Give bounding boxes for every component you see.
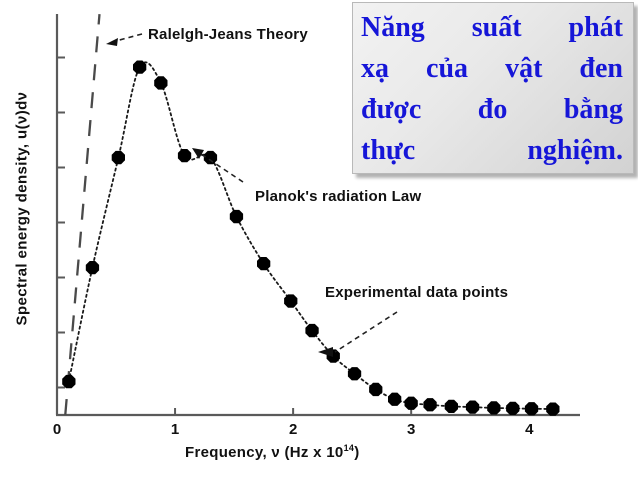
data-point-1 [86,261,99,274]
data-point-18 [466,401,479,414]
x-tick-label-1: 1 [163,421,187,438]
rayleigh-jeans-curve [65,14,99,415]
data-point-20 [506,402,519,415]
data-point-10 [305,324,318,337]
data-point-12 [348,367,361,380]
data-point-8 [257,257,270,270]
data-point-3 [133,61,146,74]
experimental-leader [335,312,397,352]
planck-arrowhead [192,148,204,159]
data-point-14 [388,393,401,406]
data-point-16 [423,398,436,411]
data-point-0 [62,375,75,388]
x-axis-title-suffix: ) [354,444,359,461]
x-axis-title-prefix: Frequency, ν (Hz x 10 [185,444,344,461]
caption-line-2: xạ của vật đen [361,48,623,89]
annotation-rayleigh-jeans: Ralelgh-Jeans Theory [148,26,308,43]
data-point-17 [445,400,458,413]
data-point-7 [230,210,243,223]
data-point-19 [487,401,500,414]
caption-line-3: được đo bằng [361,89,623,130]
data-point-4 [154,76,167,89]
y-axis-title: Spectral energy density, u(ν)dν [14,44,31,374]
data-point-21 [525,402,538,415]
annotation-planck: Planok's radiation Law [255,188,421,205]
x-tick-label-4: 4 [517,421,541,438]
annotation-experimental: Experimental data points [325,284,508,301]
x-axis-title-exponent: 14 [344,443,355,453]
y-axis-ticks [57,58,65,388]
x-tick-label-0: 0 [45,421,69,438]
data-point-2 [112,151,125,164]
x-tick-label-3: 3 [399,421,423,438]
x-axis-title: Frequency, ν (Hz x 1014) [185,443,360,461]
data-point-9 [284,294,297,307]
data-point-6 [204,151,217,164]
data-point-5 [178,149,191,162]
data-point-15 [405,397,418,410]
vietnamese-caption-box: Năng suất phát xạ của vật đen được đo bằ… [352,2,634,174]
screenshot-root: Spectral energy density, u(ν)dν Frequenc… [0,0,638,479]
rayleigh-jeans-arrowhead [106,38,118,46]
data-point-22 [546,403,559,416]
caption-line-1: Năng suất phát [361,7,623,48]
caption-line-4: thực nghiệm. [361,130,623,171]
x-tick-label-2: 2 [281,421,305,438]
data-point-13 [369,383,382,396]
